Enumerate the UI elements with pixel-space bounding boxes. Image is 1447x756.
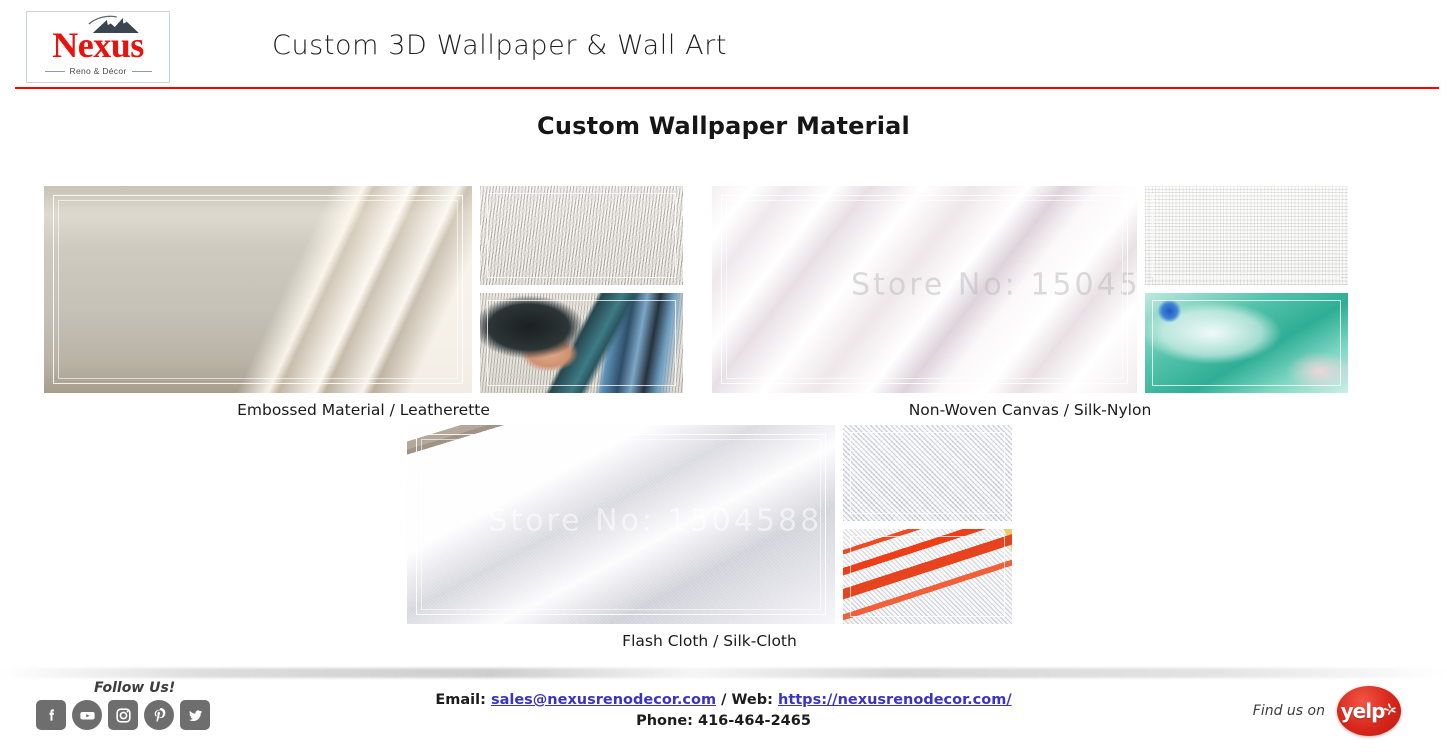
photo-frame-overlay (850, 536, 1005, 617)
social-icon-row (36, 700, 210, 730)
thumb-stack (480, 186, 683, 393)
material-gallery: Embossed Material / Leatherette Store No… (0, 140, 1447, 660)
store-watermark: Store No: 1504588 (851, 268, 1137, 303)
website-link[interactable]: https://nexusrenodecor.com/ (778, 692, 1012, 708)
yelp-icon[interactable]: yelp (1337, 686, 1401, 736)
non-woven-canvas-weave-closeup-photo[interactable] (1145, 186, 1348, 285)
tagline-rule-left (45, 71, 65, 72)
photo-frame-overlay (1152, 193, 1341, 278)
pinterest-glyph (150, 706, 169, 725)
follow-us-block: Follow Us! (36, 680, 210, 730)
youtube-icon[interactable] (72, 700, 102, 730)
yelp-block[interactable]: Find us on yelp (1253, 686, 1401, 736)
flash-cloth-diagonal-weave-photo[interactable]: Store No: 1504588 (407, 425, 835, 624)
phone-line: Phone: 416-464-2465 (344, 711, 1104, 732)
facebook-icon[interactable] (36, 700, 66, 730)
group-caption: Non-Woven Canvas / Silk-Nylon (712, 401, 1348, 419)
material-group-canvas: Store No: 1504588 Non-Woven Canvas / Sil… (712, 186, 1348, 419)
page-title: Custom 3D Wallpaper & Wall Art (272, 30, 727, 61)
brand-logo[interactable]: Nexus Reno & Décor (26, 11, 170, 83)
image-row (44, 186, 683, 393)
thumb-stack (843, 425, 1012, 624)
tagline-rule-right (132, 71, 152, 72)
photo-frame-overlay (487, 300, 676, 386)
twitter-glyph (186, 706, 205, 725)
white-silk-nylon-fabric-folds-photo[interactable]: Store No: 1504588 (712, 186, 1137, 393)
youtube-glyph (78, 706, 97, 725)
printed-kingfisher-bird-on-embossed-wallpaper-photo[interactable] (480, 293, 683, 393)
teal-floral-printed-canvas-photo[interactable] (1145, 293, 1348, 393)
email-link[interactable]: sales@nexusrenodecor.com (491, 692, 716, 708)
thumb-stack (1145, 186, 1348, 393)
contact-info: Email: sales@nexusrenodecor.com / Web: h… (344, 690, 1104, 732)
email-label: Email: (435, 692, 491, 708)
yelp-wordmark: yelp (1341, 699, 1385, 723)
brand-tagline: Reno & Décor (70, 66, 127, 76)
image-row: Store No: 1504588 (407, 425, 1012, 624)
material-group-flash-cloth: Store No: 1504588 Flash Cloth / Silk-Clo… (407, 425, 1012, 650)
yelp-burst-icon (1382, 702, 1397, 717)
brand-tagline-row: Reno & Décor (45, 66, 152, 76)
material-group-embossed: Embossed Material / Leatherette (44, 186, 683, 419)
instagram-glyph (114, 706, 133, 725)
section-heading: Custom Wallpaper Material (0, 112, 1447, 140)
group-caption: Flash Cloth / Silk-Cloth (407, 632, 1012, 650)
yelp-label: Find us on (1253, 703, 1325, 719)
embossed-texture-closeup-photo[interactable] (480, 186, 683, 285)
photo-frame-overlay (721, 195, 1128, 384)
pinterest-icon[interactable] (144, 700, 174, 730)
photo-frame-overlay (53, 195, 463, 384)
facebook-glyph (43, 707, 60, 724)
image-row: Store No: 1504588 (712, 186, 1348, 393)
red-stripes-printed-silk-cloth-photo[interactable] (843, 529, 1012, 624)
silk-cloth-weave-closeup-photo[interactable] (843, 425, 1012, 521)
header-divider (15, 87, 1439, 89)
group-caption: Embossed Material / Leatherette (44, 401, 683, 419)
photo-frame-overlay (416, 434, 826, 615)
contact-separator: / Web: (716, 692, 778, 708)
follow-us-label: Follow Us! (94, 680, 210, 696)
photo-frame-overlay (850, 432, 1005, 514)
twitter-icon[interactable] (180, 700, 210, 730)
photo-frame-overlay (1152, 300, 1341, 386)
store-watermark: Store No: 1504588 (488, 503, 822, 538)
contact-line-1: Email: sales@nexusrenodecor.com / Web: h… (344, 690, 1104, 711)
page-footer: Follow Us! (0, 676, 1447, 756)
page-header: Nexus Reno & Décor Custom 3D Wallpaper &… (0, 0, 1447, 88)
rolled-embossed-wallpaper-photo[interactable] (44, 186, 472, 393)
instagram-icon[interactable] (108, 700, 138, 730)
photo-frame-overlay (487, 193, 676, 278)
mountain-icon (87, 15, 143, 35)
